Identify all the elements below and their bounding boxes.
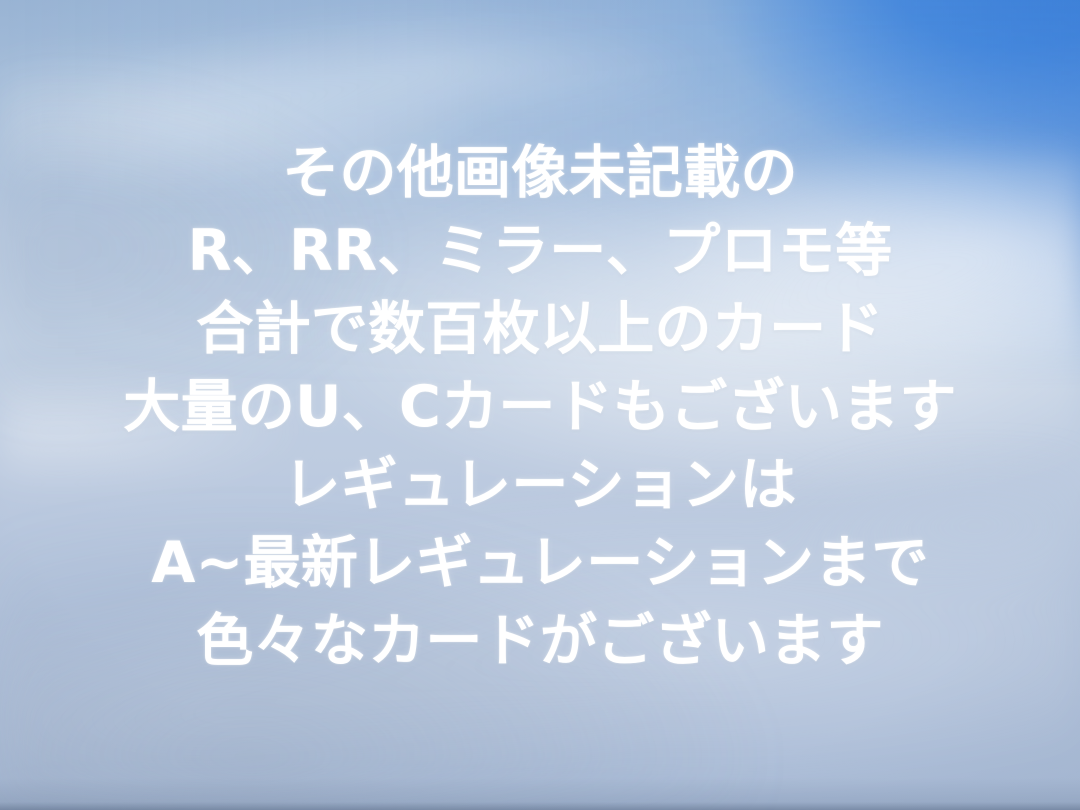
caption-line-7: 色々なカードがございます (196, 602, 883, 680)
caption-line-1: その他画像未記載の (282, 134, 798, 212)
slide-canvas: その他画像未記載の R、RR、ミラー、プロモ等 合計で数百枚以上のカード 大量の… (0, 0, 1080, 810)
caption-line-3: 合計で数百枚以上のカード (196, 290, 883, 368)
caption-line-2: R、RR、ミラー、プロモ等 (188, 212, 893, 290)
caption-line-5: レギュレーションは (283, 446, 796, 524)
caption-line-6: A~最新レギュレーションまで (151, 524, 929, 602)
caption-block: その他画像未記載の R、RR、ミラー、プロモ等 合計で数百枚以上のカード 大量の… (0, 0, 1080, 810)
caption-line-4: 大量のU、Cカードもございます (123, 368, 956, 446)
